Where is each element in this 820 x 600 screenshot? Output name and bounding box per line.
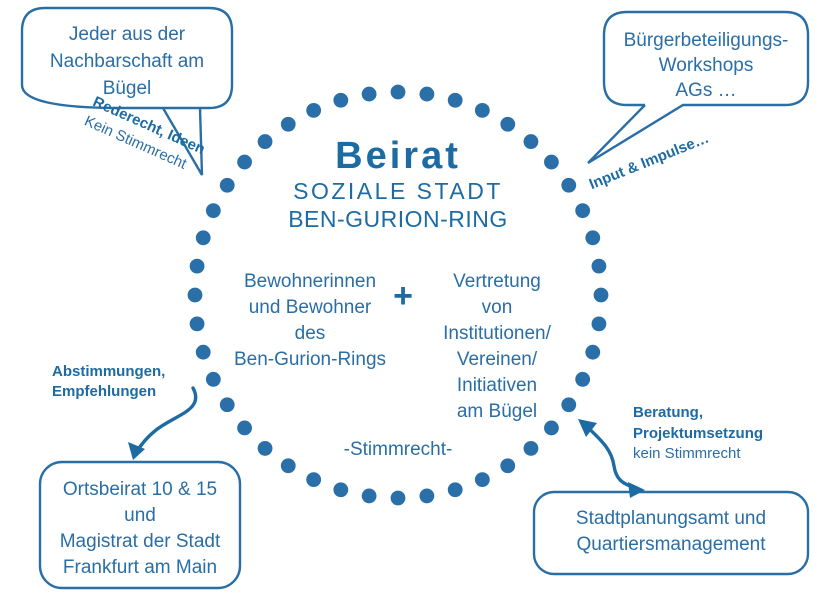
ring-dot [190, 259, 205, 274]
ring-dot [448, 93, 463, 108]
ring-dot [362, 87, 377, 102]
box-bottom-left-line-3: Frankfurt am Main [63, 557, 217, 578]
center-right-line-3: Vereinen/ [457, 349, 538, 370]
ring-dot [333, 482, 348, 497]
ring-dot [362, 489, 377, 504]
center-left-line-2: des [295, 323, 326, 344]
center-left-line-0: Bewohnerinnen [244, 271, 376, 292]
ring-dot [419, 87, 434, 102]
ring-dot [448, 482, 463, 497]
center-right-line-2: Institutionen/ [443, 323, 551, 344]
edge-label-bottom-right: Beratung, Projektumsetzung kein Stimmrec… [633, 404, 763, 462]
ring-dot [196, 230, 211, 245]
box-bottom-left-line-2: Magistrat der Stadt [60, 531, 221, 552]
center-right-line-4: Initiativen [457, 375, 537, 396]
ring-dot [333, 93, 348, 108]
edge-label-top-left: Rederecht, Ideen Kein Stimmrecht [82, 93, 208, 177]
ring-dot [575, 372, 590, 387]
ring-dot [575, 203, 590, 218]
ring-dot [524, 134, 539, 149]
box-bottom-left[interactable]: Ortsbeirat 10 & 15 und Magistrat der Sta… [40, 462, 240, 588]
ring-dot [419, 489, 434, 504]
ring-dot [237, 421, 252, 436]
center-left-line-1: und Bewohner [249, 297, 372, 318]
center-right-line-5: am Bügel [457, 401, 537, 422]
ring-dot [475, 103, 490, 118]
center-right-line-0: Vertretung [453, 271, 541, 292]
center-left-line-3: Ben-Gurion-Rings [234, 349, 386, 370]
ring-dot [190, 316, 205, 331]
center-subtitle-2: BEN-GURION-RING [288, 206, 508, 232]
ring-dot [206, 203, 221, 218]
edge-label-top-right-bold: Input & Impulse… [587, 130, 712, 194]
center-footer: -Stimmrecht- [344, 439, 453, 460]
ring-dot [391, 85, 406, 100]
ring-dot [391, 491, 406, 506]
callout-top-left-line-0: Jeder aus der [69, 24, 186, 45]
callout-top-right-line-2: AGs … [675, 80, 736, 101]
diagram-svg: Beirat SOZIALE STADT BEN-GURION-RING Bew… [0, 0, 820, 600]
ring-dot [544, 155, 559, 170]
ring-dot [306, 472, 321, 487]
ring-dot [585, 345, 600, 360]
plus-icon: + [393, 277, 413, 315]
callout-top-right-line-1: Workshops [659, 55, 754, 76]
ring-dot [258, 134, 273, 149]
box-bottom-right-shape [534, 492, 808, 574]
ring-dot [561, 178, 576, 193]
center-content: Beirat SOZIALE STADT BEN-GURION-RING Bew… [234, 135, 552, 460]
ring-dot [196, 345, 211, 360]
ring-dot [237, 155, 252, 170]
center-title: Beirat [335, 135, 461, 177]
edge-label-bottom-right-bold-1: Beratung, [633, 404, 703, 421]
ring-dot [544, 421, 559, 436]
edge-label-bottom-left: Abstimmungen, Empfehlungen [52, 363, 165, 400]
callout-top-right-line-0: Bürgerbeteiligungs- [624, 30, 789, 51]
ring-dot [188, 288, 203, 303]
ring-dot [220, 178, 235, 193]
arrow-bottom-right-curve [585, 425, 636, 488]
edge-label-bottom-left-bold-2: Empfehlungen [52, 383, 156, 400]
edge-label-bottom-left-bold-1: Abstimmungen, [52, 363, 165, 380]
ring-dot [585, 230, 600, 245]
box-bottom-right[interactable]: Stadtplanungsamt und Quartiersmanagement [534, 492, 808, 574]
ring-dot [475, 472, 490, 487]
ring-dot [281, 458, 296, 473]
ring-dot [258, 441, 273, 456]
center-right-line-1: von [482, 297, 513, 318]
ring-dot [306, 103, 321, 118]
diagram-canvas: Beirat SOZIALE STADT BEN-GURION-RING Bew… [0, 0, 820, 600]
edge-label-top-right: Input & Impulse… [587, 130, 712, 194]
ring-dot [592, 259, 607, 274]
ring-dot [281, 117, 296, 132]
edge-label-bottom-right-regular: kein Stimmrecht [633, 445, 741, 462]
ring-dot [206, 372, 221, 387]
callout-top-left-line-2: Bügel [103, 78, 152, 99]
edge-label-bottom-right-bold-2: Projektumsetzung [633, 425, 763, 442]
box-bottom-left-line-0: Ortsbeirat 10 & 15 [63, 479, 217, 500]
center-subtitle-1: SOZIALE STADT [293, 178, 503, 204]
box-bottom-right-line-1: Quartiersmanagement [576, 534, 766, 555]
box-bottom-right-line-0: Stadtplanungsamt und [576, 508, 766, 529]
ring-dot [594, 288, 609, 303]
box-bottom-left-line-1: und [124, 505, 156, 526]
ring-dot [500, 458, 515, 473]
ring-dot [500, 117, 515, 132]
ring-dot [592, 316, 607, 331]
ring-dot [220, 397, 235, 412]
ring-dot [524, 441, 539, 456]
callout-top-left-line-1: Nachbarschaft am [50, 51, 204, 72]
ring-dot [561, 397, 576, 412]
